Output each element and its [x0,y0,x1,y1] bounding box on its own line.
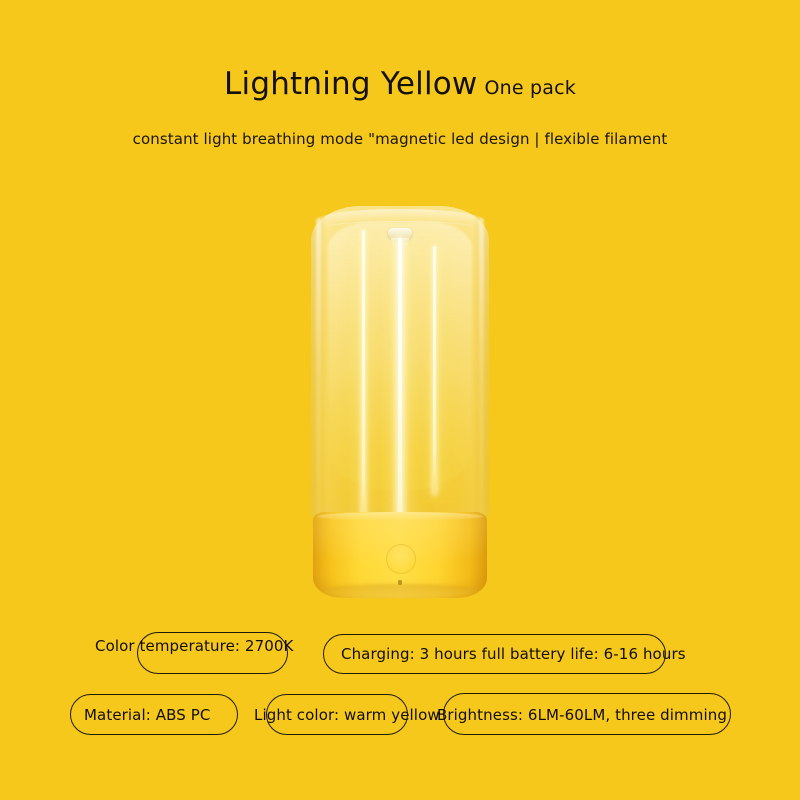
glass-edge-left-icon [316,218,321,514]
title-main: Lightning Yellow [224,66,477,102]
filament-left-icon [362,230,365,526]
title-pack-suffix: One pack [484,77,575,99]
feature-label-color-temperature: Color temperature: 2700K [95,637,293,655]
page-subtitle: constant light breathing mode "magnetic … [0,130,800,148]
product-lamp [311,206,489,600]
feature-label-charging: Charging: 3 hours full battery life: 6-1… [341,645,686,663]
base-top-edge-icon [317,512,483,521]
feature-label-light-color: Light color: warm yellow [254,706,440,724]
feature-label-material: Material: ABS PC [84,706,210,724]
filament-right-icon [433,246,436,494]
power-button-icon[interactable] [386,544,416,574]
lamp-base [313,512,487,598]
feature-label-brightness: Brightness: 6LM-60LM, three dimming [437,706,727,724]
page-title: Lightning YellowOne pack [0,66,800,102]
glass-edge-right-icon [479,218,484,514]
product-image: Lightning YellowOne pack constant light … [0,0,800,800]
base-bottom-edge-icon [320,584,480,597]
